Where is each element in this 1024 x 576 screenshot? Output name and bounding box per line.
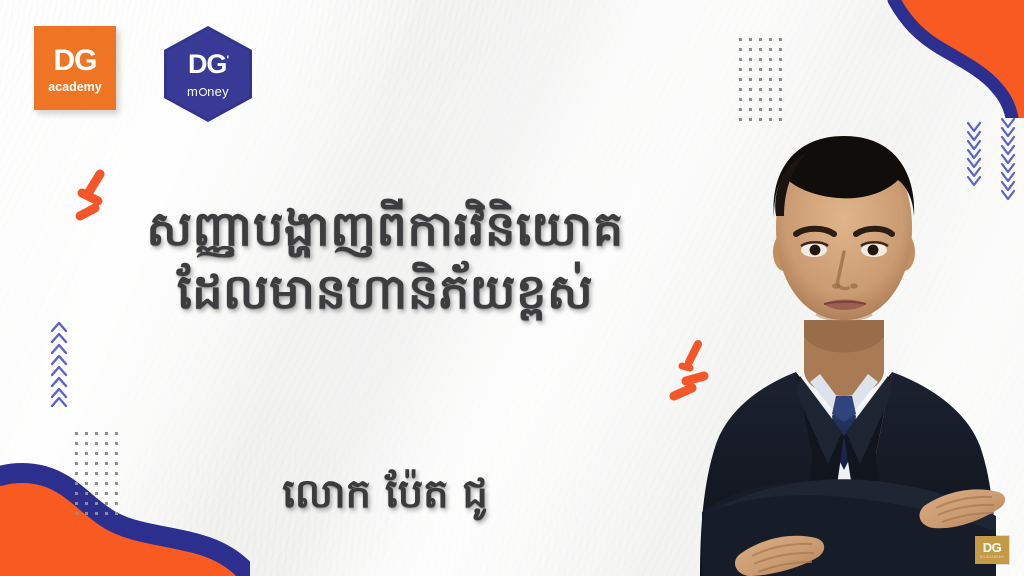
watermark-mark: DG [983, 541, 1002, 554]
dg-academy-logo[interactable]: DG academy [34, 26, 116, 110]
dg-academy-label: academy [48, 81, 102, 94]
dg-money-logo[interactable]: DG' mney [164, 26, 252, 122]
dg-money-mark: DG' [188, 51, 228, 78]
dg-money-label-post: ney [207, 84, 229, 99]
dg-academy-mark: DG [54, 46, 97, 76]
watermark-label: DG ACADEMY [980, 556, 1005, 559]
coin-icon [199, 88, 207, 96]
title-line-2: ដែលមានហានិភ័យខ្ពស់ [0, 261, 770, 324]
slide-title-block: សញ្ញាបង្ហាញពីការវិនិយោគ ដែលមានហានិភ័យខ្ព… [0, 198, 770, 325]
dot-grid-top-right [739, 38, 782, 121]
corner-decoration-top-right [834, 0, 1024, 118]
brand-logo-row: DG academy DG' mney [34, 26, 252, 122]
speaker-name: លោក ប៉ែត ជូ [0, 470, 770, 518]
dg-money-label-pre: m [187, 84, 198, 99]
dg-money-label: mney [187, 85, 229, 98]
dg-money-tick: ' [226, 54, 228, 66]
dg-money-mark-text: DG [188, 49, 227, 79]
chevron-column-left [50, 320, 68, 407]
title-line-1: សញ្ញាបង្ហាញពីការវិនិយោគ [0, 198, 770, 261]
dg-watermark: DG DG ACADEMY [975, 536, 1009, 564]
slide-canvas: DG academy DG' mney [0, 0, 1024, 576]
